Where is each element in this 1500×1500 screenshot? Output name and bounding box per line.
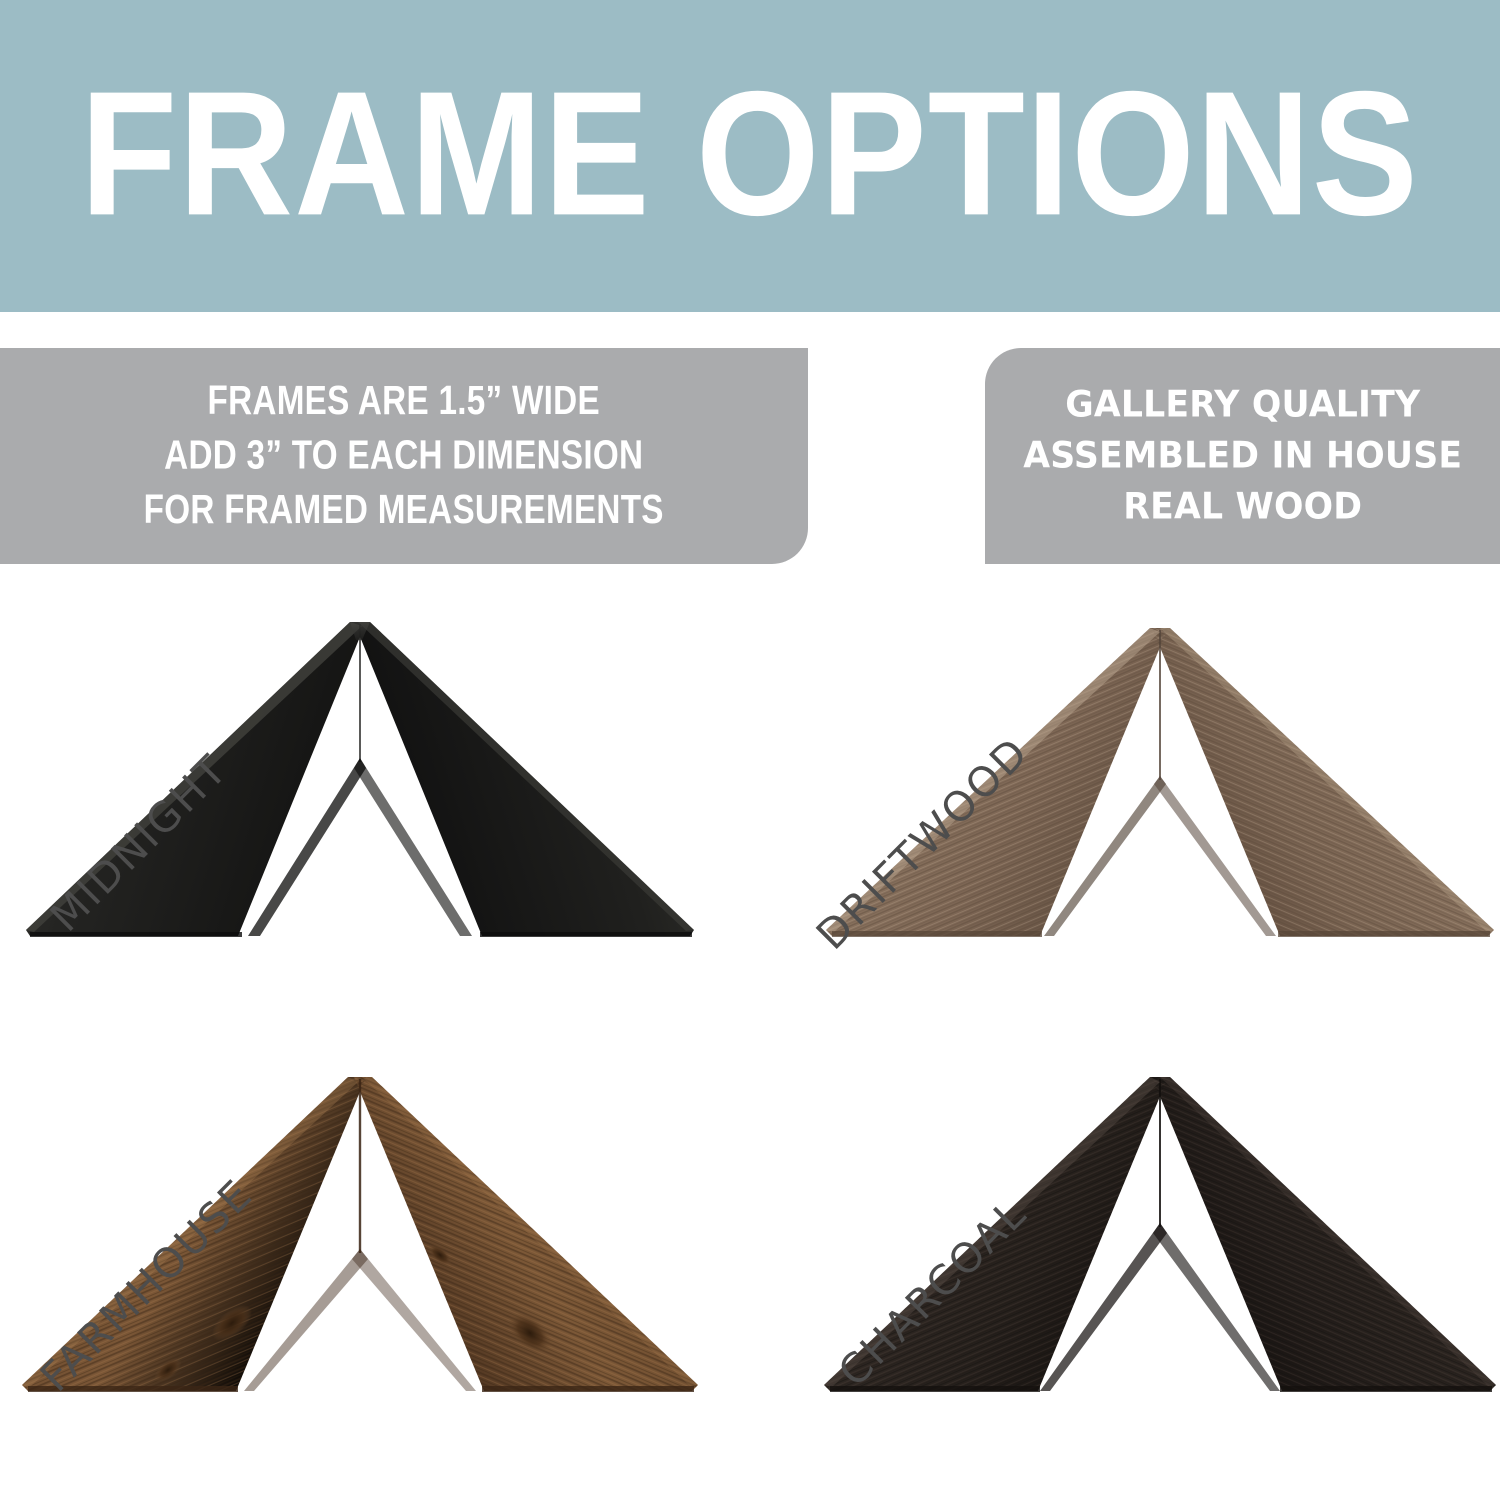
quality-text: GALLERY QUALITY ASSEMBLED IN HOUSE REAL … <box>1023 380 1462 533</box>
frame-measurements-text: FRAMES ARE 1.5” WIDE ADD 3” TO EACH DIME… <box>144 374 664 537</box>
frame-corner-midnight-image <box>10 600 710 1030</box>
frame-sample-driftwood[interactable]: DRIFTWOOD <box>810 600 1500 1030</box>
header-banner: FRAME OPTIONS <box>0 0 1500 312</box>
frame-corner-driftwood-image <box>810 600 1500 1030</box>
page-title: FRAME OPTIONS <box>0 78 1500 228</box>
frame-sample-midnight[interactable]: MIDNIGHT <box>10 600 710 1030</box>
frame-sample-farmhouse[interactable]: FARMHOUSE <box>10 1055 710 1485</box>
frame-sample-charcoal[interactable]: CHARCOAL <box>810 1055 1500 1485</box>
quality-panel: GALLERY QUALITY ASSEMBLED IN HOUSE REAL … <box>985 348 1500 564</box>
frame-measurements-panel: FRAMES ARE 1.5” WIDE ADD 3” TO EACH DIME… <box>0 348 808 564</box>
frame-corner-charcoal-image <box>810 1055 1500 1485</box>
frame-corner-farmhouse-image <box>10 1055 710 1485</box>
page-title-text: FRAME OPTIONS <box>81 65 1420 242</box>
